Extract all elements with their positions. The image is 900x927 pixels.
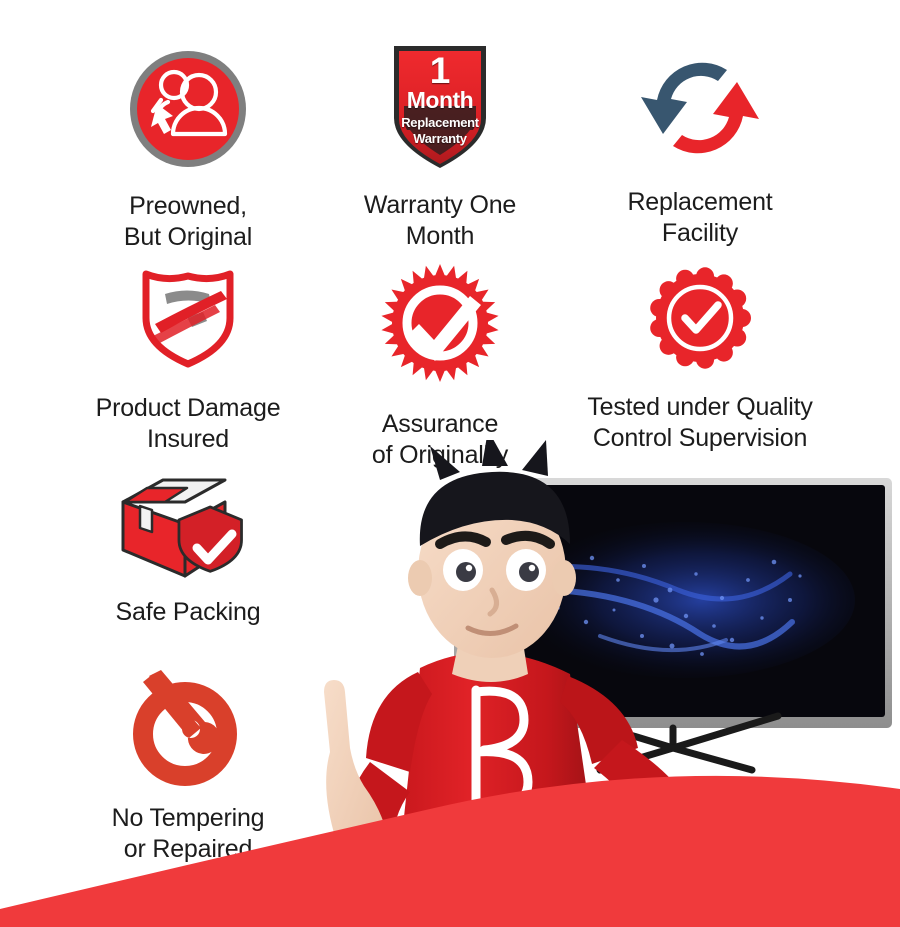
rosette-check-icon <box>647 265 753 376</box>
feature-product-damage: Product Damage Insured <box>68 262 308 454</box>
preowned-user-circle-icon <box>127 48 249 175</box>
badge-number: 1 <box>380 52 500 89</box>
feature-safe-packing: Safe Packing <box>68 470 308 628</box>
feature-warranty: 1 Month Replacement Warranty Warranty On… <box>330 42 550 251</box>
damage-shield-icon <box>129 262 247 377</box>
feature-label: Warranty One Month <box>364 190 516 251</box>
tv-screen-content <box>515 522 855 678</box>
badge-period: Month <box>380 89 500 112</box>
badge-line-2: Warranty <box>380 132 500 145</box>
feature-label: Replacement Facility <box>627 187 772 248</box>
starburst-check-icon <box>379 262 501 389</box>
badge-line-1: Replacement <box>380 116 500 129</box>
promo-feature-poster: Preowned, But Original 1 Month Replace <box>0 0 900 927</box>
feature-label: Preowned, But Original <box>124 191 252 252</box>
bottom-red-wave <box>0 727 900 927</box>
feature-replacement: Replacement Facility <box>590 48 810 248</box>
warranty-shield-badge-icon: 1 Month Replacement Warranty <box>380 42 500 172</box>
box-shield-check-icon <box>113 470 263 585</box>
replacement-arrows-icon <box>635 48 765 173</box>
feature-label: Safe Packing <box>116 597 261 628</box>
feature-preowned: Preowned, But Original <box>68 48 308 252</box>
feature-label: Product Damage Insured <box>96 393 281 454</box>
feature-assurance: Assurance of Originality <box>330 262 550 470</box>
feature-tested-quality: Tested under Quality Control Supervision <box>565 265 835 453</box>
